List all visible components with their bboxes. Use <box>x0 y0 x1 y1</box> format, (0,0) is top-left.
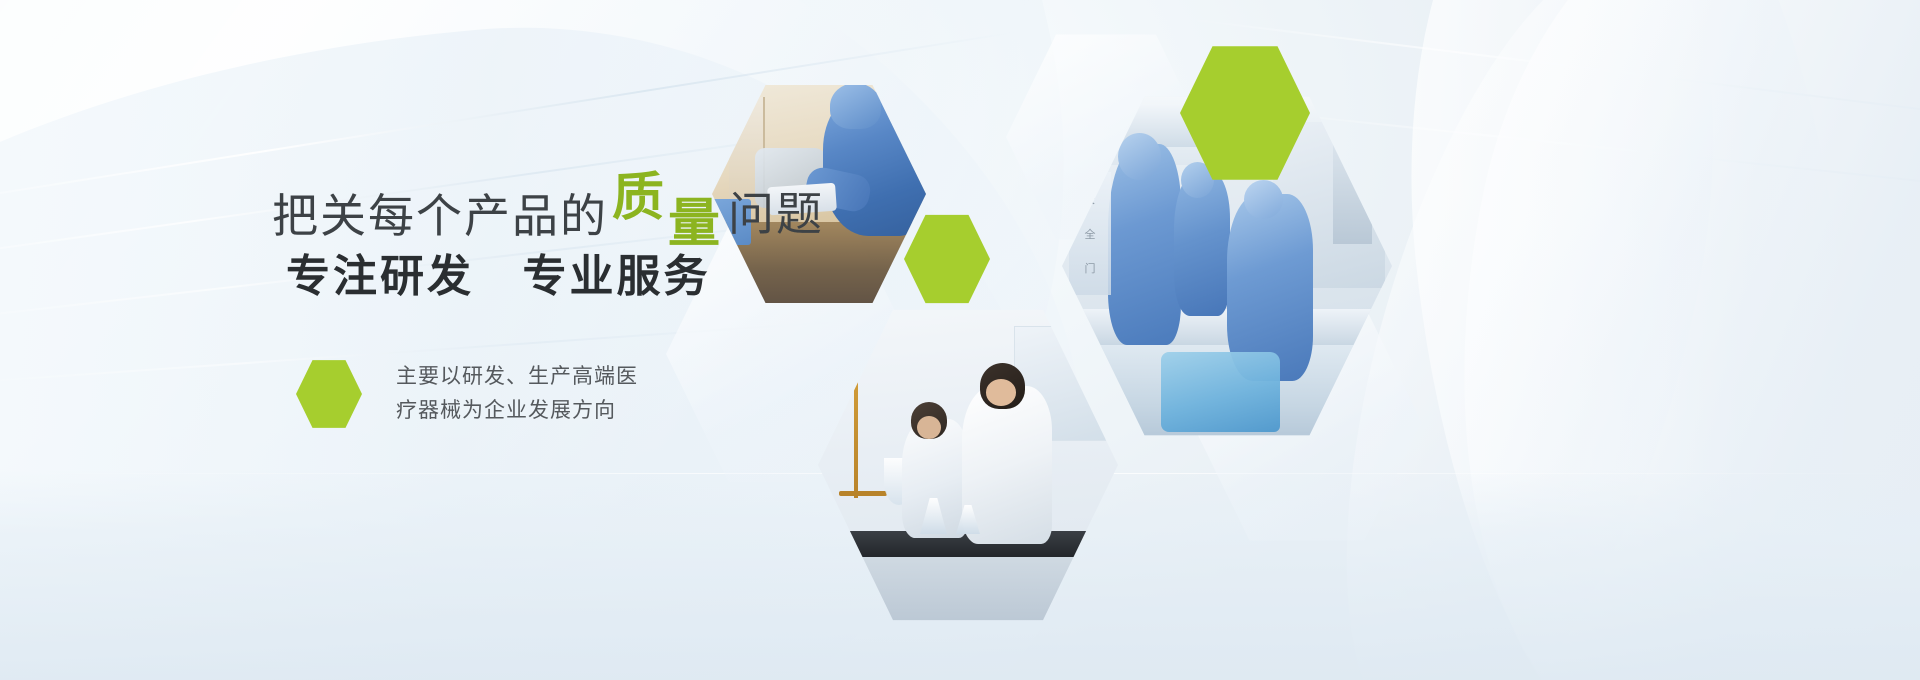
subtitle-row-1: 主要以研发、生产高端医 <box>396 360 638 394</box>
headline-line-2: 专注研发 专业服务 <box>286 250 710 304</box>
hero-banner: 安 全 门 把关每个产品 <box>0 0 1920 680</box>
photo-c-technician-1-face <box>917 416 941 439</box>
headline-line-2-part-1: 专注研发 <box>286 252 474 301</box>
photo-b-worker-3-hood <box>1244 180 1284 220</box>
sign-char-3: 门 <box>1085 260 1096 276</box>
photo-b-cabinet-panel <box>1333 136 1373 244</box>
photo-b-blue-tub <box>1161 352 1280 431</box>
headline-accent-liang: 量 <box>668 198 722 250</box>
headline-line-1-prefix: 把关每个产品的 <box>272 190 608 242</box>
sign-char-2: 全 <box>1085 226 1096 242</box>
green-hexagon-small <box>904 212 990 306</box>
headline-line-1: 把关每个产品的 质 量 问题 <box>272 190 824 242</box>
photo-a-worker-hood <box>830 83 881 129</box>
headline-accent-zhi: 质 <box>612 172 666 224</box>
headline-line-1-suffix: 问题 <box>728 188 824 240</box>
photo-b-worker-1-hood <box>1118 133 1161 180</box>
headline-line-2-part-2: 专业服务 <box>522 252 710 301</box>
photo-c-stand-base <box>839 491 887 496</box>
banner-copy: 把关每个产品的 质 量 问题 专注研发 专业服务 主要以研发、生产高端医 疗器械… <box>0 0 760 680</box>
photo-c-technician-2-face <box>986 379 1016 405</box>
subtitle-row-2: 疗器械为企业发展方向 <box>396 394 638 428</box>
banner-subtitle: 主要以研发、生产高端医 疗器械为企业发展方向 <box>396 360 638 428</box>
